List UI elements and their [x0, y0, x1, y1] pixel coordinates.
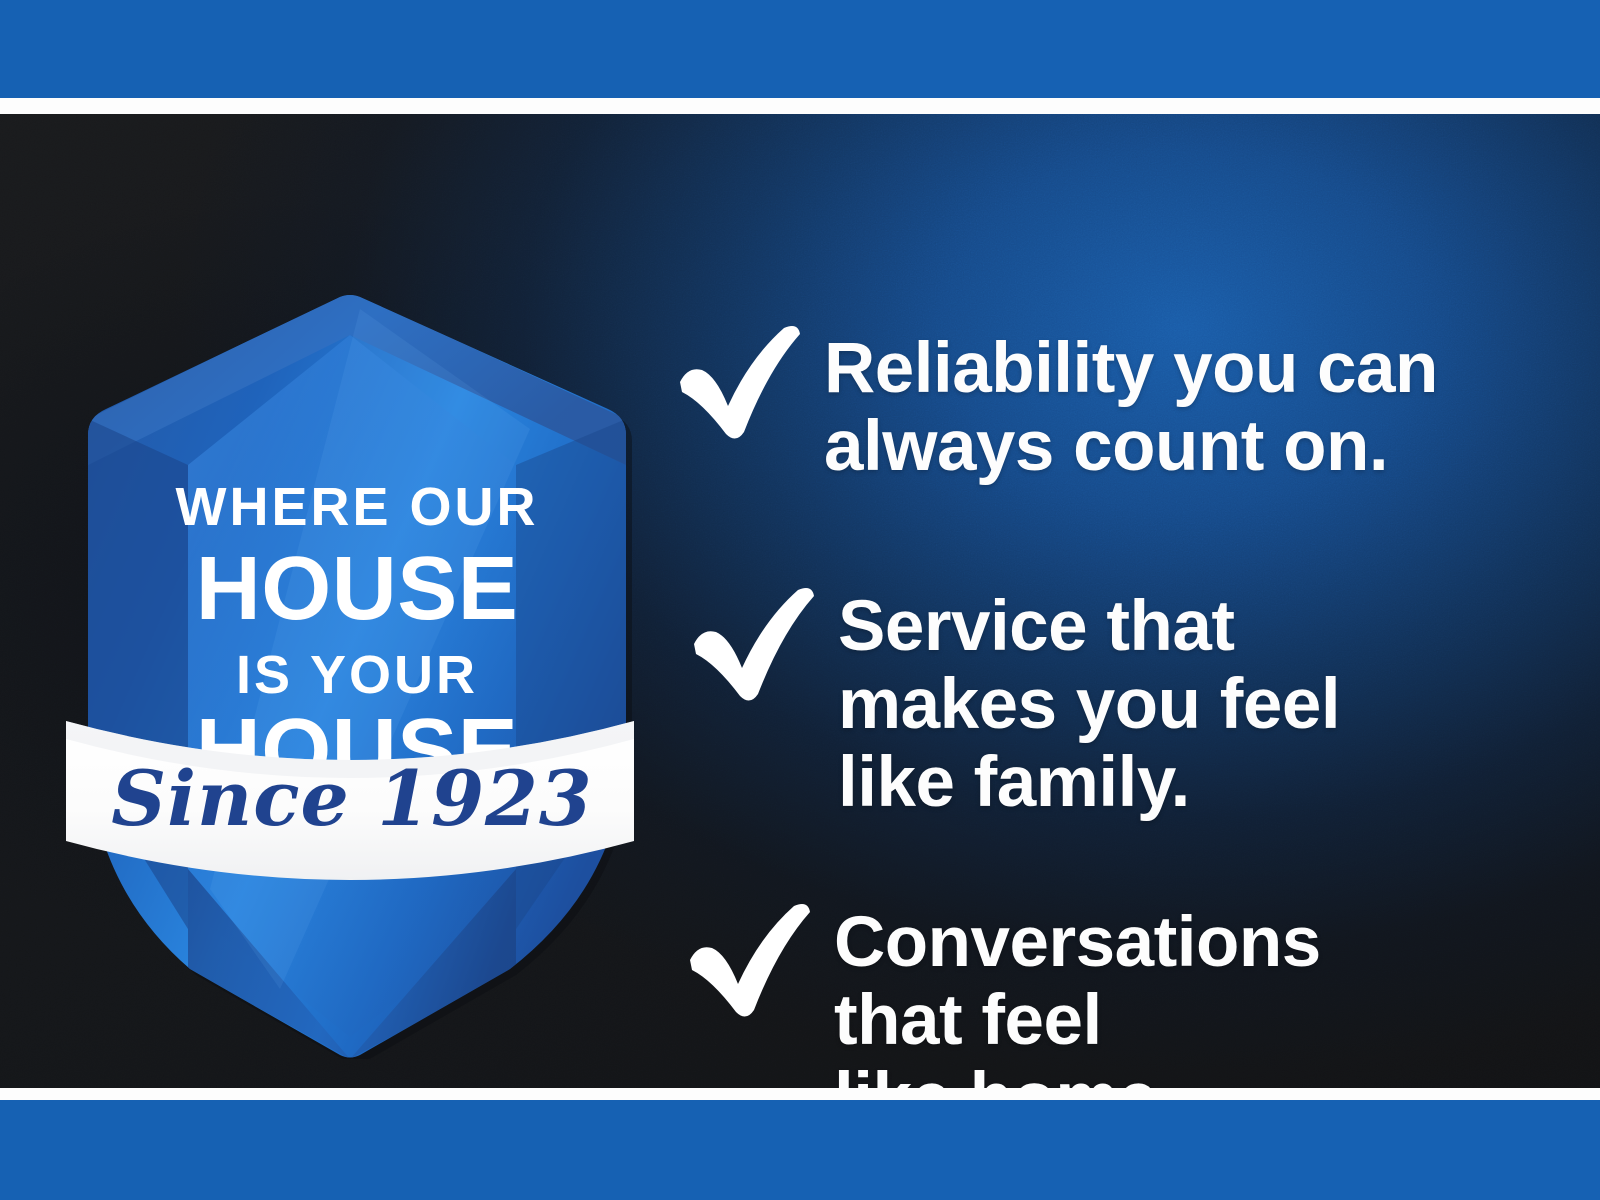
- ribbon-text: Since 1923: [111, 754, 593, 843]
- benefit-item-2: Service that makes you feel like family.: [686, 584, 1340, 822]
- bottom-blue-band: [0, 1100, 1600, 1200]
- benefit-text: Reliability you can always count on.: [824, 322, 1438, 486]
- check-icon: [686, 584, 818, 702]
- benefit-item-3: Conversations that feel like home.: [682, 900, 1321, 1088]
- check-icon: [682, 900, 814, 1018]
- top-white-divider: [0, 98, 1600, 114]
- logo-line-2: HOUSE: [196, 539, 519, 639]
- benefits-list: Reliability you can always count on. Ser…: [672, 304, 1532, 1088]
- benefit-text: Service that makes you feel like family.: [838, 584, 1340, 822]
- check-icon: [672, 322, 804, 440]
- top-blue-band: [0, 0, 1600, 98]
- company-shield-logo: WHERE OUR HOUSE IS YOUR HOUSE Since 1923: [60, 269, 640, 1059]
- logo-line-1: WHERE OUR: [176, 477, 539, 537]
- main-panel: WHERE OUR HOUSE IS YOUR HOUSE Since 1923: [0, 114, 1600, 1088]
- promo-graphic: WHERE OUR HOUSE IS YOUR HOUSE Since 1923: [0, 0, 1600, 1200]
- logo-line-3: IS YOUR: [236, 645, 478, 705]
- benefit-item-1: Reliability you can always count on.: [672, 322, 1438, 486]
- benefit-text: Conversations that feel like home.: [834, 900, 1321, 1088]
